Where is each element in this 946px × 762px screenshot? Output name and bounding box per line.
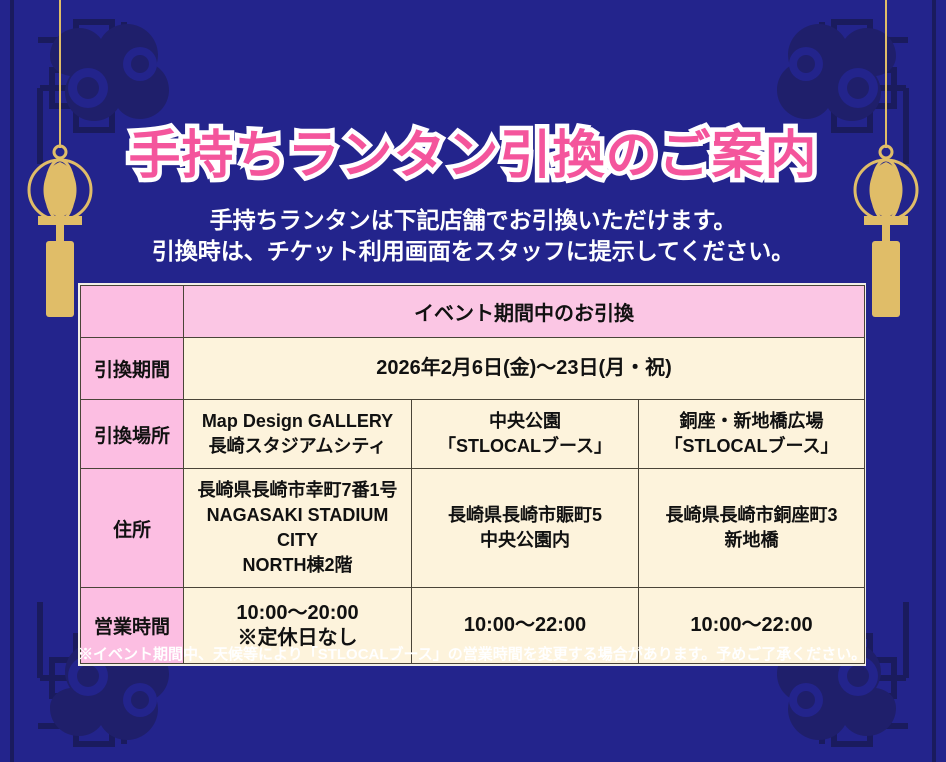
- subtitle-line-1: 手持ちランタンは下記店舗でお引換いただけます。: [0, 205, 946, 236]
- cell-address-2: 長崎県長崎市賑町5中央公園内: [412, 469, 639, 588]
- subtitle-line-2: 引換時は、チケット利用画面をスタッフに提示してください。: [0, 236, 946, 267]
- row-label-period: 引換期間: [81, 338, 184, 400]
- cell-address-1: 長崎県長崎市幸町7番1号NAGASAKI STADIUM CITYNORTH棟2…: [184, 469, 412, 588]
- cell-location-3: 銅座・新地橋広場「STLOCALブース」: [639, 400, 865, 469]
- footnote: ※イベント期間中、天候等により「STLOCALブース」の営業時間を変更する場合が…: [78, 644, 878, 666]
- table-row: 引換期間 2026年2月6日(金)〜23日(月・祝): [81, 338, 865, 400]
- cell-location-1: Map Design GALLERY長崎スタジアムシティ: [184, 400, 412, 469]
- table-row: 引換場所 Map Design GALLERY長崎スタジアムシティ 中央公園「S…: [81, 400, 865, 469]
- exchange-info-table: イベント期間中のお引換 引換期間 2026年2月6日(金)〜23日(月・祝) 引…: [78, 283, 866, 666]
- row-label-location: 引換場所: [81, 400, 184, 469]
- page-subtitle: 手持ちランタンは下記店舗でお引換いただけます。 引換時は、チケット利用画面をスタ…: [0, 205, 946, 267]
- poster-canvas: 手持ちランタン引換のご案内 手持ちランタンは下記店舗でお引換いただけます。 引換…: [0, 0, 946, 762]
- table-header-title: イベント期間中のお引換: [184, 286, 865, 338]
- cell-location-2: 中央公園「STLOCALブース」: [412, 400, 639, 469]
- row-label-address: 住所: [81, 469, 184, 588]
- table-row: 住所 長崎県長崎市幸町7番1号NAGASAKI STADIUM CITYNORT…: [81, 469, 865, 588]
- table-row-header: イベント期間中のお引換: [81, 286, 865, 338]
- cell-exchange-period: 2026年2月6日(金)〜23日(月・祝): [184, 338, 865, 400]
- table-body: イベント期間中のお引換 引換期間 2026年2月6日(金)〜23日(月・祝) 引…: [81, 286, 865, 664]
- header-empty-cell: [81, 286, 184, 338]
- cell-address-3: 長崎県長崎市銅座町3新地橋: [639, 469, 865, 588]
- page-title: 手持ちランタン引換のご案内: [0, 113, 946, 188]
